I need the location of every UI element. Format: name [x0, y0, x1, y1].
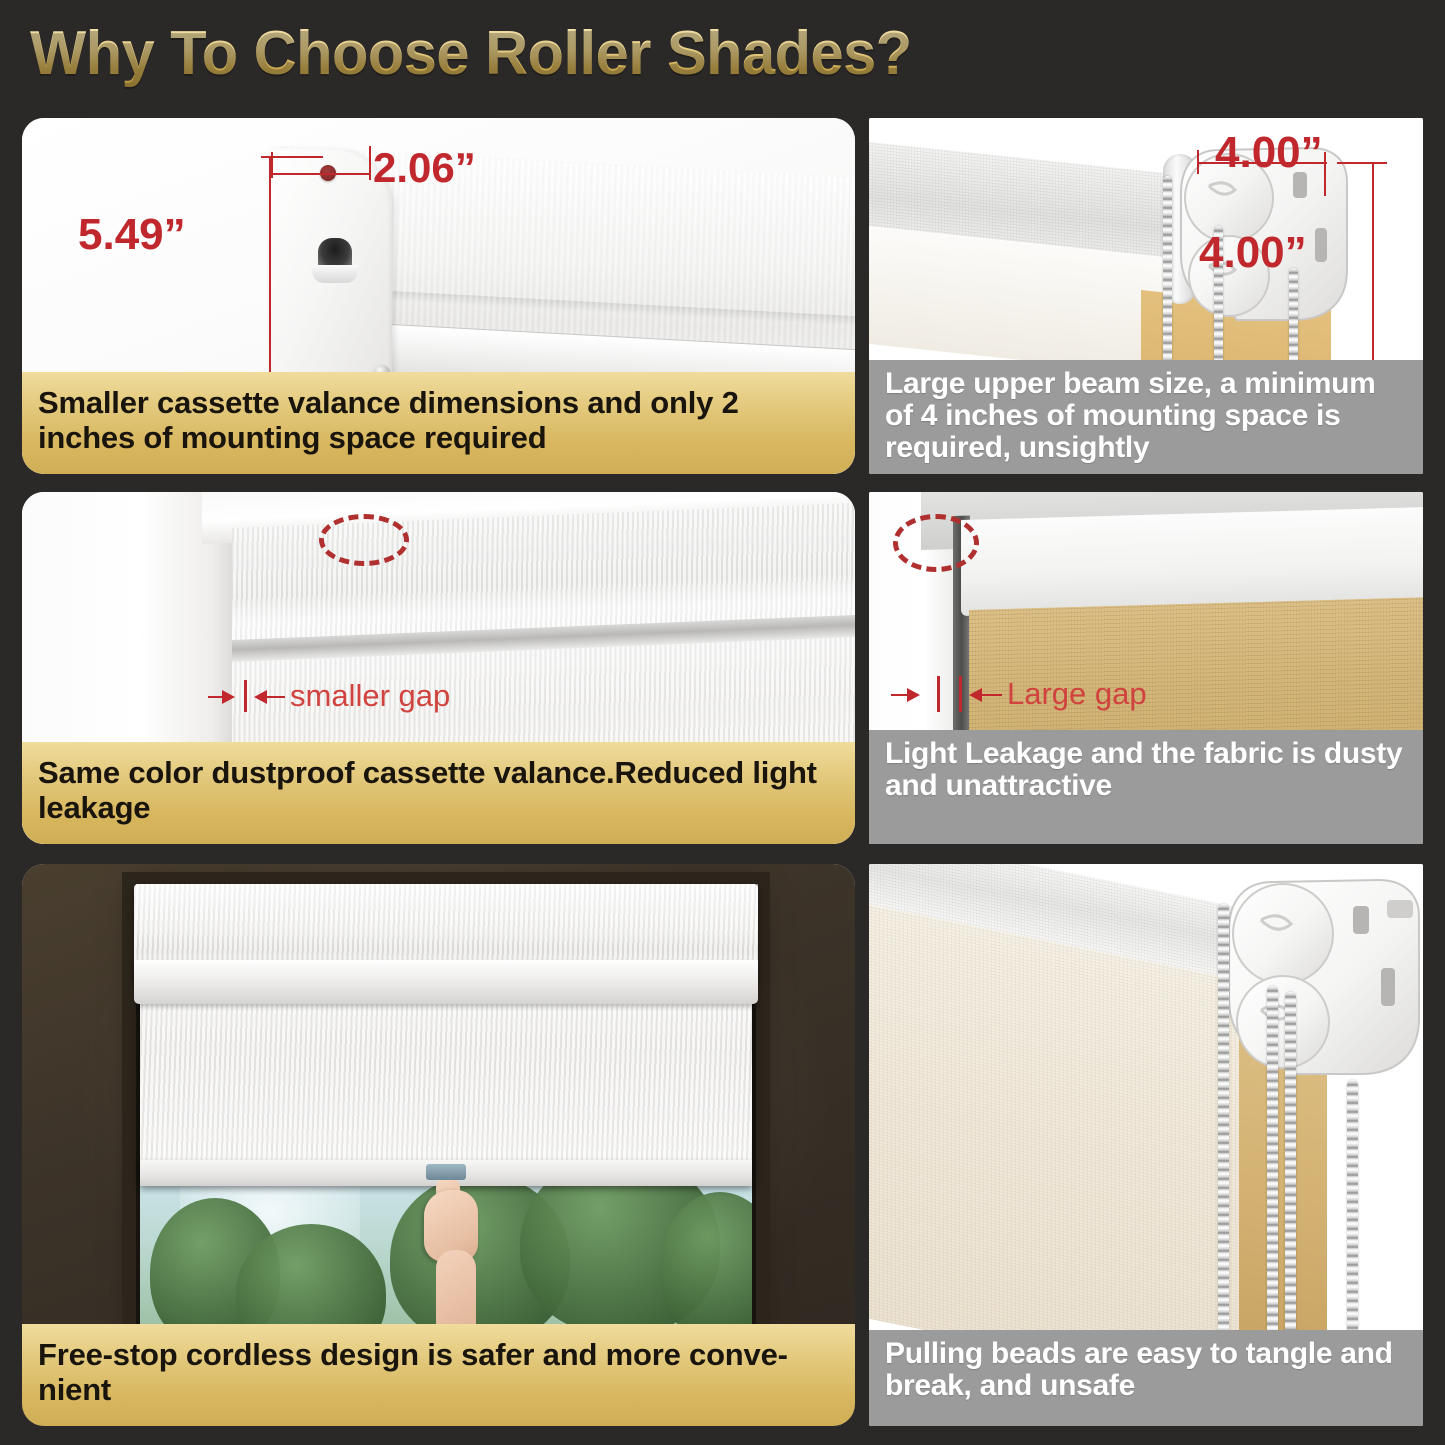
panel-pro-row3: Free-stop cordless design is safer and m…	[22, 864, 855, 1426]
panel-con-row3-caption-text: Pulling beads are easy to tangle and bre…	[885, 1338, 1407, 1402]
gap-arrow-left-stem	[980, 694, 1002, 696]
height-dimension-tick-top	[1337, 162, 1387, 164]
gap-highlight-ellipse	[893, 514, 979, 572]
gap-marker-bar-right	[959, 676, 962, 712]
width-dimension-line	[271, 173, 371, 175]
bead-chain-right	[1347, 1080, 1358, 1362]
gap-arrow-right-stem	[891, 694, 911, 696]
panel-con-row2-caption-band: Light Leakage and the fabric is dusty an…	[869, 730, 1423, 844]
gap-arrow-right-stem	[208, 696, 226, 698]
width-dimension-tick-right	[1324, 152, 1326, 196]
bead-chain-left	[1163, 176, 1172, 376]
gap-highlight-ellipse	[319, 514, 409, 566]
hand-pulling-shade	[420, 1176, 482, 1326]
panel-pro-row3-caption-band: Free-stop cordless design is safer and m…	[22, 1324, 855, 1426]
gap-marker-bar-left	[937, 676, 940, 712]
gap-callout-label: Large gap	[1007, 676, 1147, 712]
cassette-valance-lip	[134, 960, 758, 1004]
height-dimension-label: 5.49”	[78, 210, 186, 260]
panel-pro-row3-caption-text: Free-stop cordless design is safer and m…	[38, 1338, 839, 1407]
height-dimension-label: 4.00”	[1199, 228, 1307, 278]
panel-pro-row2-caption-band: Same color dustproof cassette valance.Re…	[22, 742, 855, 844]
bead-chain-middle-2	[1285, 992, 1296, 1364]
panel-con-row1-caption-text: Large upper beam size, a minimum of 4 in…	[885, 368, 1407, 463]
panel-con-row1: 4.00” 4.00” Large upper beam size, a min…	[869, 118, 1423, 474]
roller-fabric-cream	[869, 903, 1249, 1396]
bracket-clover-icon	[1221, 872, 1423, 1084]
panel-con-row2: Large gap Light Leakage and the fabric i…	[869, 492, 1423, 844]
bead-chain-left	[1218, 904, 1229, 1364]
shade-pull-grip	[426, 1164, 466, 1180]
panel-pro-row1-caption-text: Smaller cassette valance dimensions and …	[38, 386, 839, 455]
gap-arrow-left-stem	[265, 696, 285, 698]
roller-bracket	[1221, 872, 1423, 1084]
comparison-grid: 5.49” 2.06” Smaller cassette valance dim…	[0, 0, 1445, 1445]
bead-chain-middle	[1267, 986, 1278, 1364]
height-dimension-line	[269, 156, 271, 384]
panel-con-row1-caption-band: Large upper beam size, a minimum of 4 in…	[869, 360, 1423, 474]
width-dimension-label: 2.06”	[373, 144, 476, 192]
width-dimension-label: 4.00”	[1215, 128, 1323, 178]
panel-con-row3: Pulling beads are easy to tangle and bre…	[869, 864, 1423, 1426]
gap-marker-bar	[244, 680, 247, 712]
end-cap-slot	[318, 238, 352, 271]
panel-pro-row1: 5.49” 2.06” Smaller cassette valance dim…	[22, 118, 855, 474]
gap-callout-label: smaller gap	[290, 678, 450, 714]
panel-pro-row2-caption-text: Same color dustproof cassette valance.Re…	[38, 756, 839, 825]
panel-pro-row2: smaller gap Same color dustproof cassett…	[22, 492, 855, 844]
panel-con-row2-caption-text: Light Leakage and the fabric is dusty an…	[885, 738, 1407, 802]
width-dimension-tick-left	[271, 152, 273, 178]
width-dimension-tick-right	[369, 146, 371, 180]
panel-con-row3-caption-band: Pulling beads are easy to tangle and bre…	[869, 1330, 1423, 1426]
width-dimension-tick-left	[1197, 150, 1199, 174]
panel-pro-row1-caption-band: Smaller cassette valance dimensions and …	[22, 372, 855, 474]
